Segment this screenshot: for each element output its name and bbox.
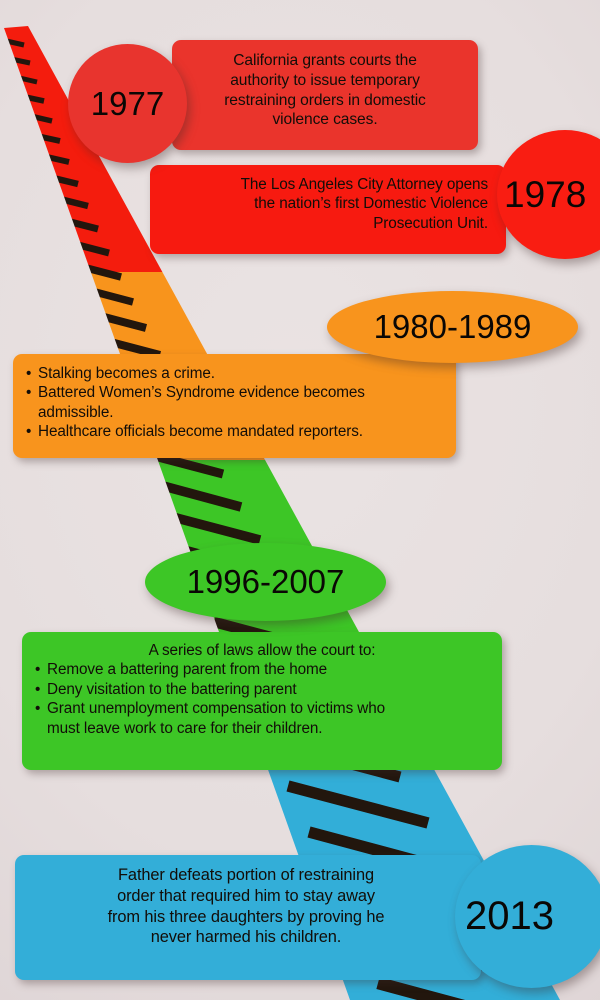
year-badge-1980-1989[interactable]: 1980-1989 xyxy=(327,291,578,363)
callout-line: restraining orders in domestic xyxy=(186,91,464,111)
bullet-item: Grant unemployment compensation to victi… xyxy=(34,699,490,718)
callout-line: from his three daughters by proving he xyxy=(29,907,463,928)
callout-line: order that required him to stay away xyxy=(29,886,463,907)
callout-line: California grants courts the xyxy=(186,51,464,71)
year-label-2013: 2013 xyxy=(465,894,554,939)
callout-heading: A series of laws allow the court to: xyxy=(34,641,490,660)
year-badge-1977[interactable]: 1977 xyxy=(68,44,187,163)
callout-1977[interactable]: California grants courts the authority t… xyxy=(172,40,478,150)
year-label-1977: 1977 xyxy=(91,85,164,123)
bullet-continuation: must leave work to care for their childr… xyxy=(34,719,490,738)
callout-line: authority to issue temporary xyxy=(186,71,464,91)
bullet-item: Stalking becomes a crime. xyxy=(25,364,444,383)
callout-line: never harmed his children. xyxy=(29,927,463,948)
year-label-1978: 1978 xyxy=(504,174,586,216)
callout-1978[interactable]: The Los Angeles City Attorney opens the … xyxy=(150,165,506,254)
callout-2013[interactable]: Father defeats portion of restraining or… xyxy=(15,855,481,980)
callout-1996-2007[interactable]: A series of laws allow the court to: Rem… xyxy=(22,632,502,770)
callout-line: Father defeats portion of restraining xyxy=(29,865,463,886)
bullet-item: Remove a battering parent from the home xyxy=(34,660,490,679)
bullet-continuation: admissible. xyxy=(25,403,444,422)
bullet-item: Healthcare officials become mandated rep… xyxy=(25,422,444,441)
callout-line: violence cases. xyxy=(186,110,464,130)
year-label-1980-1989: 1980-1989 xyxy=(374,308,532,346)
callout-line: the nation’s first Domestic Violence xyxy=(164,194,488,213)
bullet-item: Deny visitation to the battering parent xyxy=(34,680,490,699)
year-label-1996-2007: 1996-2007 xyxy=(187,563,345,601)
callout-1980-1989[interactable]: Stalking becomes a crime. Battered Women… xyxy=(13,354,456,458)
year-badge-1996-2007[interactable]: 1996-2007 xyxy=(145,543,386,621)
timeline-infographic: 1977 California grants courts the author… xyxy=(0,0,600,1000)
year-badge-2013[interactable]: 2013 xyxy=(455,845,600,988)
callout-line: The Los Angeles City Attorney opens xyxy=(164,175,488,194)
bullet-item: Battered Women’s Syndrome evidence becom… xyxy=(25,383,444,402)
callout-line: Prosecution Unit. xyxy=(164,214,488,233)
